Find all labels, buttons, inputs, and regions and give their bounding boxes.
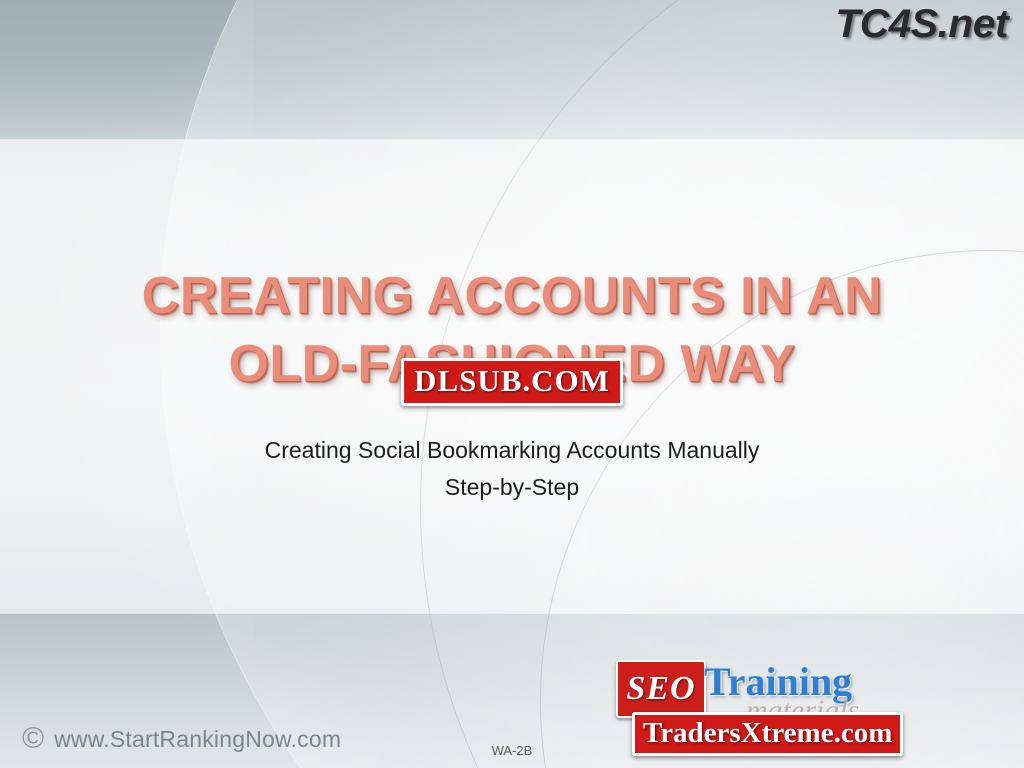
dlsub-watermark-badge: DLSUB.COM <box>401 358 623 406</box>
site-tag-watermark: TC4S.net <box>835 2 1008 47</box>
slide-title-line-1: Creating Accounts in an <box>0 262 1024 330</box>
tradersxtreme-banner-text: TradersXtreme.com <box>643 717 892 749</box>
tradersxtreme-banner: TradersXtreme.com <box>632 712 903 756</box>
seo-badge: SEO <box>616 660 706 718</box>
seo-badge-text: SEO <box>626 670 695 708</box>
copyright-icon: © <box>22 724 44 754</box>
dlsub-watermark-text: DLSUB.COM <box>414 364 610 398</box>
slide-subtitle: Creating Social Bookmarking Accounts Man… <box>0 432 1024 506</box>
slide-subtitle-line-2: Step-by-Step <box>0 469 1024 506</box>
footer-url-text: www.StartRankingNow.com <box>54 726 341 753</box>
footer-branding: © www.StartRankingNow.com <box>22 724 341 754</box>
presentation-slide: TC4S.net Creating Accounts in an Old-Fas… <box>0 0 1024 768</box>
slide-code-label: WA-2B <box>492 743 533 758</box>
slide-subtitle-line-1: Creating Social Bookmarking Accounts Man… <box>0 432 1024 469</box>
logo-cluster: SEO Training materials TradersXtreme.com <box>616 660 1016 760</box>
